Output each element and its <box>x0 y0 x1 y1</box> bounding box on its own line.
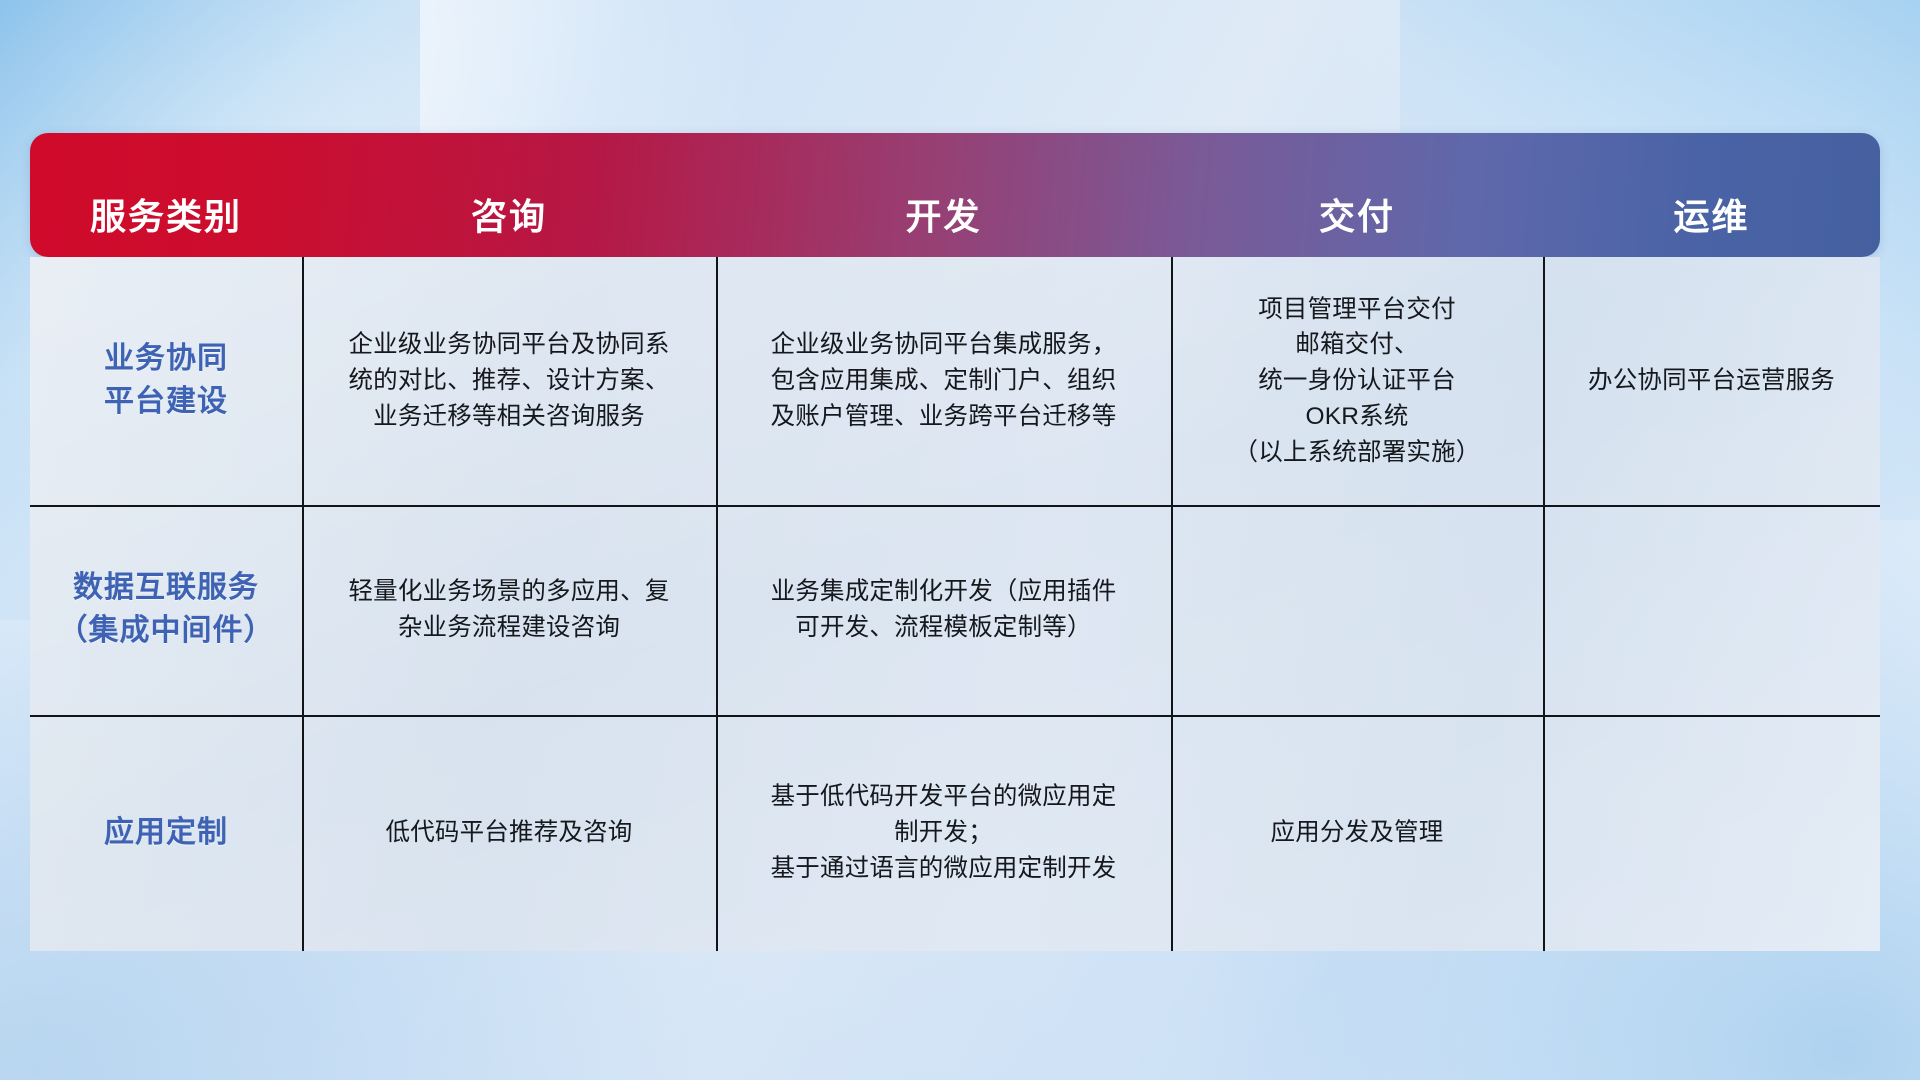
cell-text: 项目管理平台交付 邮箱交付、 统一身份认证平台 OKR系统 （以上系统部署实施） <box>1234 292 1481 471</box>
row-label-cell: 应用定制 <box>30 715 302 951</box>
cell-text: 应用分发及管理 <box>1271 815 1444 851</box>
table-header-cell-operations: 运维 <box>1543 133 1880 257</box>
cell-text: 基于低代码开发平台的微应用定 制开发； 基于通过语言的微应用定制开发 <box>771 779 1117 886</box>
cell-development: 业务集成定制化开发（应用插件 可开发、流程模板定制等） <box>716 505 1171 715</box>
cell-text: 企业级业务协同平台集成服务， 包含应用集成、定制门户、组织 及账户管理、业务跨平… <box>771 327 1117 434</box>
row-label-text: 数据互联服务 （集成中间件） <box>58 567 275 652</box>
cell-delivery: 项目管理平台交付 邮箱交付、 统一身份认证平台 OKR系统 （以上系统部署实施） <box>1171 257 1543 505</box>
table-header-cell-development: 开发 <box>716 133 1171 257</box>
cell-text: 低代码平台推荐及咨询 <box>386 815 633 851</box>
cell-text: 业务集成定制化开发（应用插件 可开发、流程模板定制等） <box>771 574 1117 646</box>
cell-development: 企业级业务协同平台集成服务， 包含应用集成、定制门户、组织 及账户管理、业务跨平… <box>716 257 1171 505</box>
cell-operations <box>1543 505 1880 715</box>
cell-text: 轻量化业务场景的多应用、复 杂业务流程建设咨询 <box>348 574 669 646</box>
row-label-text: 业务协同 平台建设 <box>104 338 228 423</box>
table-header-row: 服务类别 咨询 开发 交付 运维 <box>30 133 1880 257</box>
service-matrix-table: 服务类别 咨询 开发 交付 运维 业务协同 平台建设 企业级业务协同平台及协同系… <box>30 133 1880 953</box>
table-header-cell-delivery: 交付 <box>1171 133 1543 257</box>
cell-consulting: 企业级业务协同平台及协同系 统的对比、推荐、设计方案、 业务迁移等相关咨询服务 <box>302 257 716 505</box>
cell-development: 基于低代码开发平台的微应用定 制开发； 基于通过语言的微应用定制开发 <box>716 715 1171 951</box>
cell-consulting: 低代码平台推荐及咨询 <box>302 715 716 951</box>
row-label-cell: 数据互联服务 （集成中间件） <box>30 505 302 715</box>
cell-text: 办公协同平台运营服务 <box>1588 363 1835 399</box>
cell-operations: 办公协同平台运营服务 <box>1543 257 1880 505</box>
table-body: 业务协同 平台建设 企业级业务协同平台及协同系 统的对比、推荐、设计方案、 业务… <box>30 257 1880 951</box>
cell-delivery: 应用分发及管理 <box>1171 715 1543 951</box>
row-label-text: 应用定制 <box>104 812 228 855</box>
table-row: 业务协同 平台建设 企业级业务协同平台及协同系 统的对比、推荐、设计方案、 业务… <box>30 257 1880 505</box>
cell-consulting: 轻量化业务场景的多应用、复 杂业务流程建设咨询 <box>302 505 716 715</box>
table-header-cell-consulting: 咨询 <box>302 133 716 257</box>
table-row: 数据互联服务 （集成中间件） 轻量化业务场景的多应用、复 杂业务流程建设咨询 业… <box>30 505 1880 715</box>
cell-operations <box>1543 715 1880 951</box>
table-row: 应用定制 低代码平台推荐及咨询 基于低代码开发平台的微应用定 制开发； 基于通过… <box>30 715 1880 951</box>
cell-text: 企业级业务协同平台及协同系 统的对比、推荐、设计方案、 业务迁移等相关咨询服务 <box>348 327 669 434</box>
row-label-cell: 业务协同 平台建设 <box>30 257 302 505</box>
cell-delivery <box>1171 505 1543 715</box>
table-header-cell-category: 服务类别 <box>30 133 302 257</box>
